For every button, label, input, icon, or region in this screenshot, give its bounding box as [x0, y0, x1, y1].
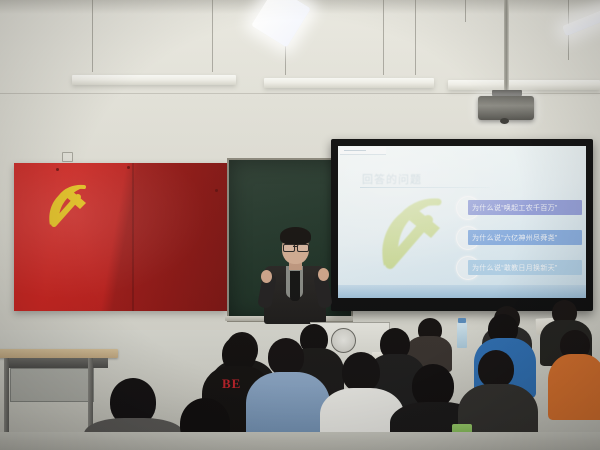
light-wire — [212, 0, 213, 72]
slide-footer-band — [338, 285, 586, 298]
projection-screen[interactable]: 回答的问题 为什么说“唤起工农千百万” 为什么说“六亿神州尽舜尧” — [331, 139, 593, 311]
empty-student-desk[interactable] — [0, 349, 118, 358]
slide-title: 回答的问题 — [362, 171, 422, 187]
bullet-label: 为什么说“敢教日月换新天” — [472, 263, 558, 273]
presenter-collar — [290, 271, 300, 301]
flag-pin — [127, 166, 130, 169]
student-head — [268, 338, 304, 376]
toolbar-items — [344, 150, 366, 151]
bullet-bar[interactable]: 为什么说“唤起工农千百万” — [468, 200, 582, 215]
slide-title-underline — [360, 187, 490, 188]
screen-surface: 回答的问题 为什么说“唤起工农千百万” 为什么说“六亿神州尽舜尧” — [338, 146, 586, 298]
shirt-graphic-text: BE — [222, 376, 241, 392]
student-head — [342, 352, 380, 392]
presenter-hair — [280, 227, 311, 245]
bullet-label: 为什么说“六亿神州尽舜尧” — [472, 233, 558, 243]
fluorescent-tube-1 — [72, 75, 236, 85]
presenter — [248, 222, 344, 322]
wall-socket[interactable] — [62, 152, 73, 162]
presenter-glasses — [297, 244, 309, 252]
presentation-slide: 回答的问题 为什么说“唤起工农千百万” 为什么说“六亿神州尽舜尧” — [338, 146, 586, 298]
classroom-photo: 回答的问题 为什么说“唤起工农千百万” 为什么说“六亿神州尽舜尧” — [0, 0, 600, 450]
light-wire — [383, 0, 384, 75]
bullet-label: 为什么说“唤起工农千百万” — [472, 203, 558, 213]
light-wire — [465, 0, 466, 22]
bottle-cap — [458, 318, 466, 323]
flag-pin — [56, 168, 59, 171]
ceiling-projector[interactable] — [478, 96, 534, 120]
hammer-and-sickle-emblem — [38, 181, 94, 233]
flag-pin — [215, 189, 218, 192]
student-head — [478, 350, 514, 388]
projector-pole — [504, 0, 509, 92]
fluorescent-tube-2 — [264, 78, 434, 88]
bullet-bar[interactable]: 为什么说“敢教日月换新天” — [468, 260, 582, 275]
presenter-left-hand — [261, 270, 272, 283]
presentation-toolbar[interactable] — [340, 147, 386, 155]
projector-lens — [500, 118, 509, 124]
slide-hammer-and-sickle-icon — [368, 194, 450, 278]
student-orange-jacket — [548, 354, 600, 420]
presenter-glasses-bridge — [293, 246, 297, 247]
desk-book-shelf — [10, 368, 94, 402]
tiled-floor — [0, 432, 600, 450]
light-wire — [92, 0, 93, 72]
communist-party-flag — [14, 163, 227, 311]
water-bottle[interactable] — [457, 322, 467, 348]
fluorescent-tube-3 — [448, 80, 600, 90]
presenter-right-hand — [318, 268, 329, 281]
bullet-bar[interactable]: 为什么说“六亿神州尽舜尧” — [468, 230, 582, 245]
university-seal-icon — [331, 328, 356, 353]
light-wire — [415, 0, 416, 75]
